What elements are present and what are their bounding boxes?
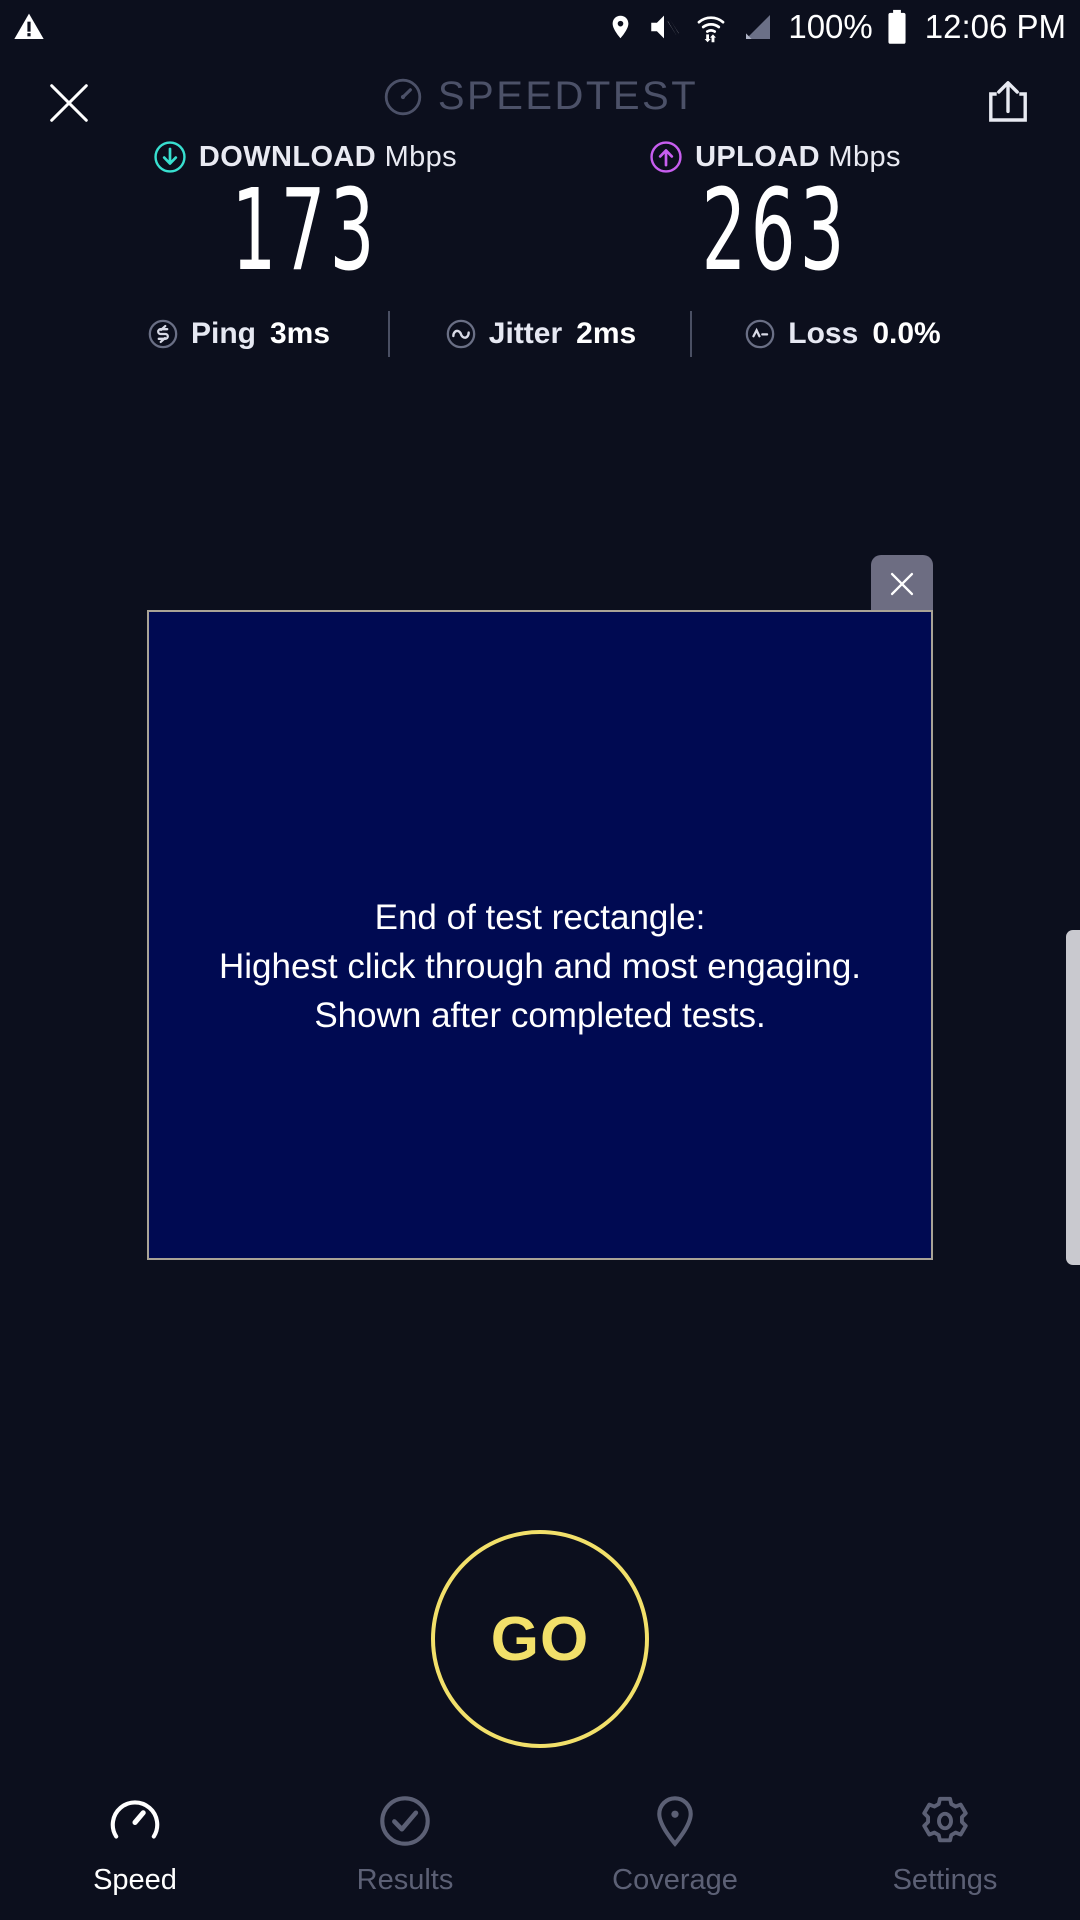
wifi-icon	[694, 10, 728, 44]
brand-title: SPEEDTEST	[438, 74, 698, 119]
jitter-value: 2ms	[576, 317, 636, 351]
jitter-icon	[444, 317, 478, 351]
bottom-navigation: Speed Results Coverage	[0, 1768, 1080, 1920]
status-bar-left	[12, 11, 46, 43]
location-pin-icon	[646, 1792, 704, 1850]
ping-label: Ping	[191, 317, 256, 351]
ad-text-line-1: End of test rectangle:	[219, 893, 861, 942]
ping-stat: Ping 3ms	[88, 317, 388, 351]
test-results: DOWNLOAD Mbps 173 UPLOAD Mbps 263	[0, 140, 1080, 290]
upload-arrow-icon	[649, 140, 683, 174]
nav-item-coverage[interactable]: Coverage	[540, 1768, 810, 1920]
ad-text-line-2: Highest click through and most engaging.	[219, 942, 861, 991]
speedometer-icon	[106, 1792, 164, 1850]
nav-item-speed[interactable]: Speed	[0, 1768, 270, 1920]
status-bar-right: 100% 12:06 PM	[607, 8, 1066, 46]
app-header: SPEEDTEST	[0, 58, 1080, 148]
download-value: 173	[231, 172, 378, 290]
location-pin-icon	[607, 10, 634, 44]
ad-creative[interactable]: End of test rectangle: Highest click thr…	[147, 610, 933, 1260]
download-metric: DOWNLOAD Mbps 173	[105, 140, 505, 290]
mute-bell-icon	[647, 10, 681, 44]
ad-text: End of test rectangle: Highest click thr…	[205, 893, 875, 1040]
loss-icon	[743, 317, 777, 351]
ping-icon	[146, 317, 180, 351]
metric-row: DOWNLOAD Mbps 173 UPLOAD Mbps 263	[0, 140, 1080, 290]
advertisement: End of test rectangle: Highest click thr…	[147, 610, 933, 1260]
upload-value: 263	[701, 172, 848, 290]
speedometer-icon	[382, 76, 424, 118]
loss-value: 0.0%	[872, 317, 940, 351]
nav-item-results[interactable]: Results	[270, 1768, 540, 1920]
go-button[interactable]: GO	[431, 1530, 649, 1748]
upload-metric: UPLOAD Mbps 263	[575, 140, 975, 290]
scrollbar-thumb[interactable]	[1066, 930, 1080, 1265]
jitter-stat: Jitter 2ms	[390, 317, 690, 351]
download-arrow-icon	[153, 140, 187, 174]
cellular-signal-icon	[741, 11, 775, 43]
ping-value: 3ms	[270, 317, 330, 351]
status-bar: 100% 12:06 PM	[0, 0, 1080, 54]
nav-item-settings[interactable]: Settings	[810, 1768, 1080, 1920]
go-button-label: GO	[491, 1604, 589, 1675]
check-circle-icon	[376, 1792, 434, 1850]
status-bar-clock: 12:06 PM	[925, 8, 1066, 46]
battery-full-icon	[886, 9, 908, 45]
ad-text-line-3: Shown after completed tests.	[219, 991, 861, 1040]
nav-label-settings: Settings	[893, 1864, 998, 1897]
nav-label-coverage: Coverage	[612, 1864, 738, 1897]
connection-stats-row: Ping 3ms Jitter 2ms Loss 0.0	[0, 305, 1080, 363]
nav-label-results: Results	[357, 1864, 454, 1897]
speedtest-app-screen: 100% 12:06 PM S	[0, 0, 1080, 1920]
share-button[interactable]	[978, 72, 1038, 134]
loss-label: Loss	[788, 317, 858, 351]
loss-stat: Loss 0.0%	[692, 317, 992, 351]
battery-percent-label: 100%	[788, 8, 872, 46]
ad-close-button[interactable]	[871, 555, 933, 612]
brand-logo: SPEEDTEST	[0, 74, 1080, 119]
warning-triangle-icon	[12, 11, 46, 43]
nav-label-speed: Speed	[93, 1864, 177, 1897]
jitter-label: Jitter	[489, 317, 562, 351]
gear-icon	[916, 1792, 974, 1850]
